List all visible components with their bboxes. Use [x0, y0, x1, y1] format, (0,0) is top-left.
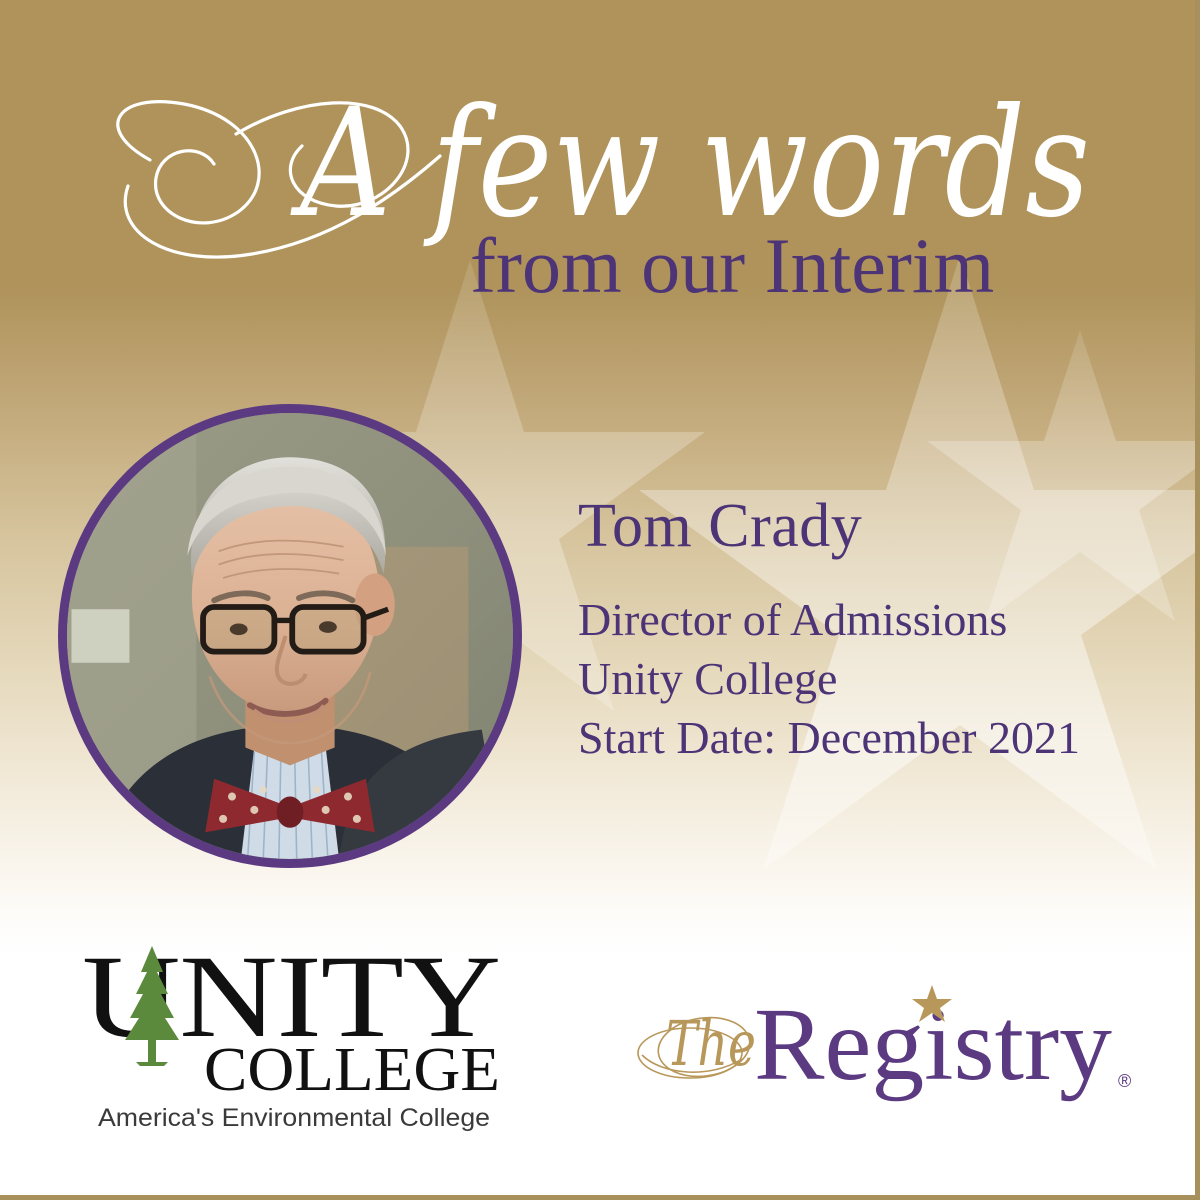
the-registry-logo: The Registry ®	[632, 975, 1137, 1105]
college-wordmark: COLLEGE	[204, 1036, 500, 1104]
person-start-date: Start Date: December 2021	[578, 709, 1178, 768]
poster-card: A few words from our Interim	[0, 0, 1200, 1200]
person-name: Tom Crady	[578, 495, 1178, 557]
person-organization: Unity College	[578, 650, 1178, 709]
portrait-photo	[67, 413, 513, 859]
unity-college-logo: UNITY COLLEGE America's Environmental Co…	[78, 928, 508, 1133]
person-title: Director of Admissions	[578, 591, 1178, 650]
person-info: Tom Crady Director of Admissions Unity C…	[578, 495, 1178, 768]
avatar	[58, 404, 522, 868]
registry-the-word: The	[666, 1007, 756, 1080]
registered-trademark-icon: ®	[1118, 1071, 1131, 1091]
unity-tagline: America's Environmental College	[98, 1104, 490, 1132]
